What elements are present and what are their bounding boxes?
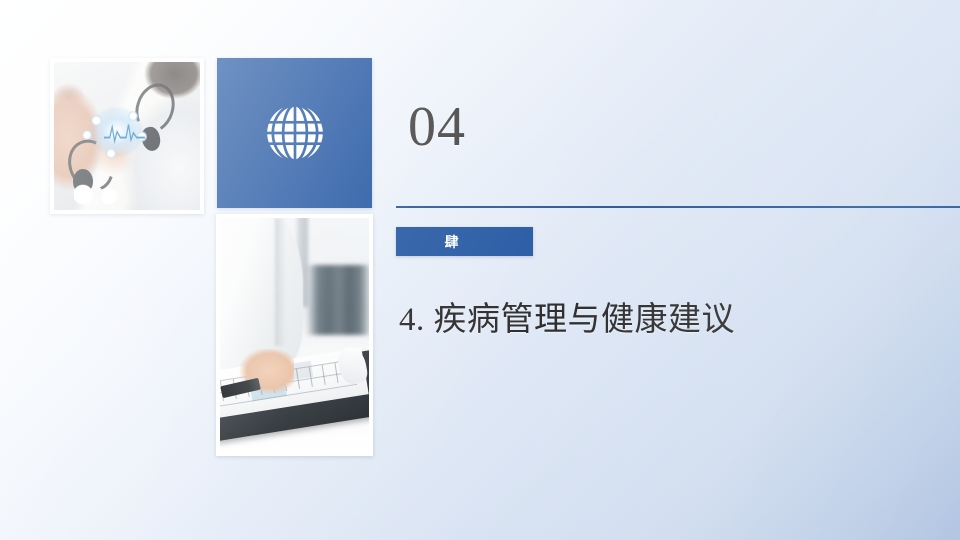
photo-medical-consultation-art bbox=[54, 62, 200, 210]
section-number: 04 bbox=[408, 99, 466, 155]
horizontal-divider bbox=[396, 206, 960, 208]
background-binders-shape bbox=[306, 265, 369, 335]
section-badge: 肆 bbox=[396, 227, 533, 256]
section-badge-label: 肆 bbox=[396, 232, 533, 252]
page-title: 4. 疾病管理与健康建议 bbox=[399, 300, 735, 341]
pill-blister-shape bbox=[74, 183, 124, 205]
slide-canvas: 04 肆 4. 疾病管理与健康建议 bbox=[0, 0, 960, 540]
ecg-waveform-icon bbox=[104, 121, 145, 145]
photo-medical-consultation bbox=[50, 58, 204, 214]
photo-doctor-writing-notes bbox=[216, 214, 373, 456]
globe-icon bbox=[262, 100, 328, 166]
photo-doctor-writing-notes-art bbox=[220, 218, 369, 452]
globe-icon-tile bbox=[217, 58, 372, 208]
